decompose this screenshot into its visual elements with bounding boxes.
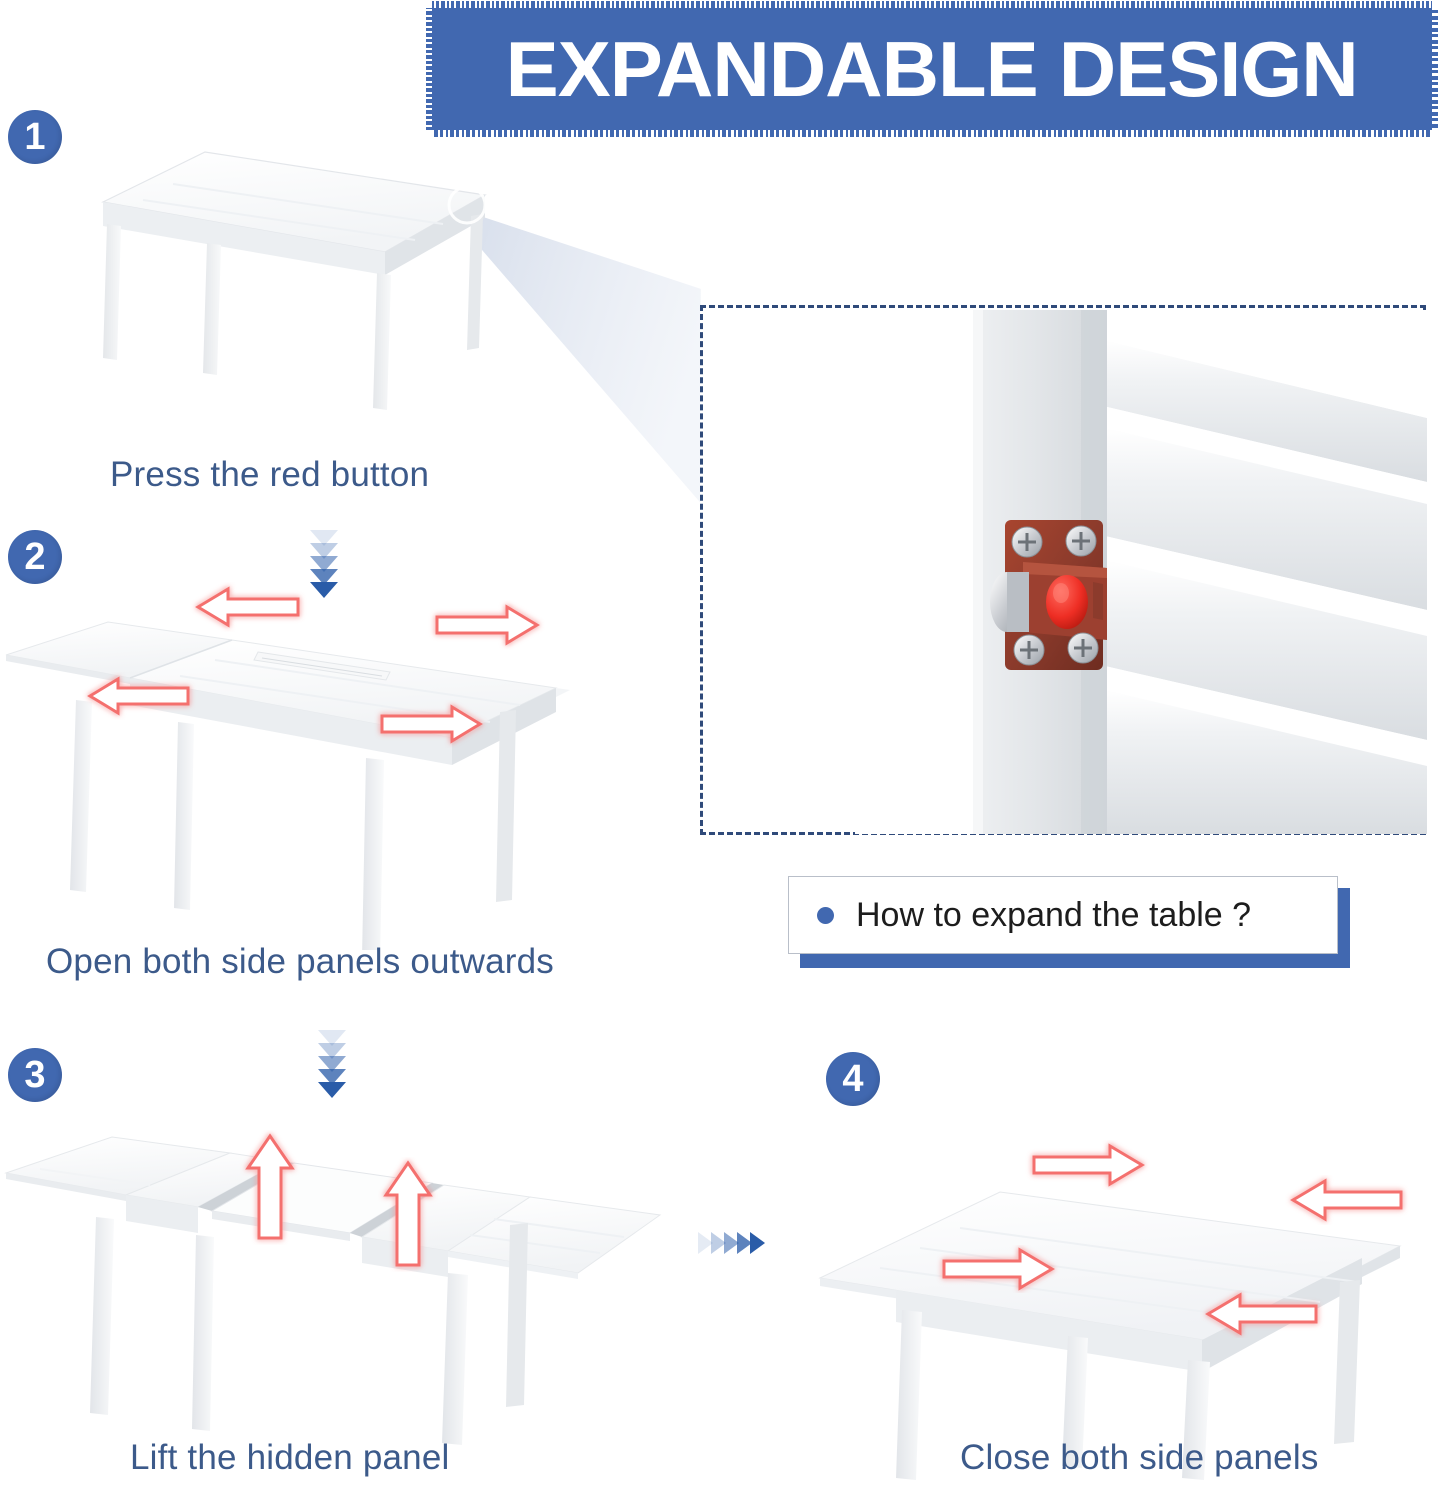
how-to-expand-callout: How to expand the table ? bbox=[788, 876, 1338, 954]
step-4-arrow-left-bottom bbox=[1200, 1290, 1330, 1338]
step-badge-3: 3 bbox=[8, 1048, 62, 1102]
step-badge-2: 2 bbox=[8, 530, 62, 584]
banner-right-edge bbox=[1430, 8, 1438, 130]
step-3-arrow-up-right bbox=[378, 1157, 438, 1272]
detail-zoom-panel bbox=[700, 305, 1426, 835]
step-4-arrow-left-top bbox=[1285, 1175, 1415, 1225]
step-3-down-chevrons bbox=[318, 1030, 346, 1095]
step-4-arrow-right-bottom bbox=[930, 1245, 1060, 1293]
step-2-caption: Open both side panels outwards bbox=[46, 942, 554, 982]
infographic-canvas: EXPANDABLE DESIGN 1 bbox=[0, 0, 1440, 1500]
step-3-arrow-up-left bbox=[240, 1130, 300, 1245]
step-2-arrow-right-top bbox=[425, 600, 545, 650]
chevron-right-icon bbox=[750, 1232, 765, 1254]
banner-left-edge bbox=[426, 8, 434, 130]
chevron-down-icon bbox=[310, 569, 338, 585]
step-badge-1: 1 bbox=[8, 110, 62, 164]
step-transition-chevrons bbox=[698, 1232, 763, 1254]
step-1-table-illustration bbox=[55, 140, 525, 430]
page-title: EXPANDABLE DESIGN bbox=[506, 24, 1358, 115]
step-badge-4: 4 bbox=[826, 1052, 880, 1106]
step-3-caption: Lift the hidden panel bbox=[130, 1438, 449, 1478]
callout-label: How to expand the table ? bbox=[856, 896, 1251, 935]
bullet-dot-icon bbox=[817, 907, 834, 924]
chevron-right-icon bbox=[737, 1232, 752, 1254]
step-2-down-chevrons bbox=[310, 530, 338, 595]
step-2-arrow-right-bottom bbox=[368, 700, 488, 748]
step-2-table-illustration bbox=[0, 600, 600, 950]
step-4-arrow-right-top bbox=[1020, 1140, 1150, 1190]
release-button-closeup bbox=[855, 310, 1427, 834]
step-2-arrow-left-top bbox=[190, 582, 310, 632]
step-4-caption: Close both side panels bbox=[960, 1438, 1319, 1478]
title-banner: EXPANDABLE DESIGN bbox=[432, 8, 1432, 130]
step-2-arrow-left-bottom bbox=[82, 672, 202, 720]
chevron-down-icon bbox=[318, 1069, 346, 1085]
step-3-table-illustration bbox=[0, 1115, 680, 1445]
step-1-caption: Press the red button bbox=[110, 455, 429, 495]
